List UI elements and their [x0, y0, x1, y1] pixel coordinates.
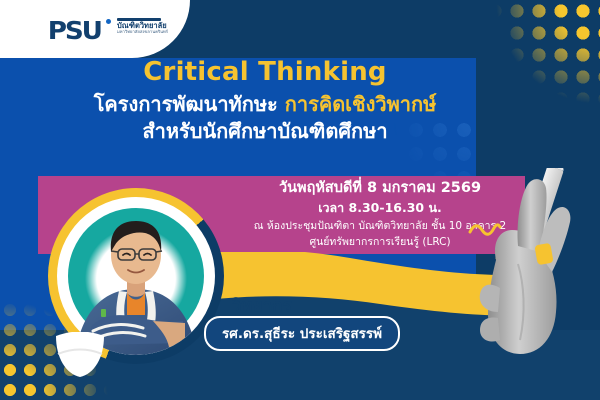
english-title: Critical Thinking: [0, 56, 530, 89]
logo-text-block: บัณฑิตวิทยาลัย มหาวิทยาลัยสงขลานครินทร์: [117, 18, 168, 35]
hand-with-pencil-illustration: [462, 168, 594, 354]
psu-wordmark-icon: PSU: [48, 18, 101, 43]
thai-title-plain: โครงการพัฒนาทักษะ: [94, 92, 285, 116]
speaker-name-pill: รศ.ดร.สุธีระ ประเสริฐสรรพ์: [204, 316, 400, 351]
thai-title-accent: การคิดเชิงวิพากษ์: [285, 92, 437, 116]
logo-thai-name: บัณฑิตวิทยาลัย: [117, 22, 168, 30]
poster-canvas: PSU บัณฑิตวิทยาลัย มหาวิทยาลัยสงขลานคริน…: [0, 0, 600, 400]
thai-title-line2: สำหรับนักศึกษาบัณฑิตศึกษา: [0, 118, 530, 145]
psu-logo: PSU บัณฑิตวิทยาลัย มหาวิทยาลัยสงขลานคริน…: [49, 17, 168, 42]
speaker-role-label: วิทยากร: [232, 292, 292, 319]
heading-block: Critical Thinking โครงการพัฒนาทักษะ การค…: [0, 56, 530, 145]
face-mask-icon: [54, 332, 106, 378]
logo-thai-subname: มหาวิทยาลัยสงขลานครินทร์: [117, 30, 168, 34]
thai-title-line1: โครงการพัฒนาทักษะ การคิดเชิงวิพากษ์: [0, 91, 530, 118]
logo-banner: PSU บัณฑิตวิทยาลัย มหาวิทยาลัยสงขลานคริน…: [0, 0, 190, 58]
psu-dot-icon: [106, 19, 111, 24]
